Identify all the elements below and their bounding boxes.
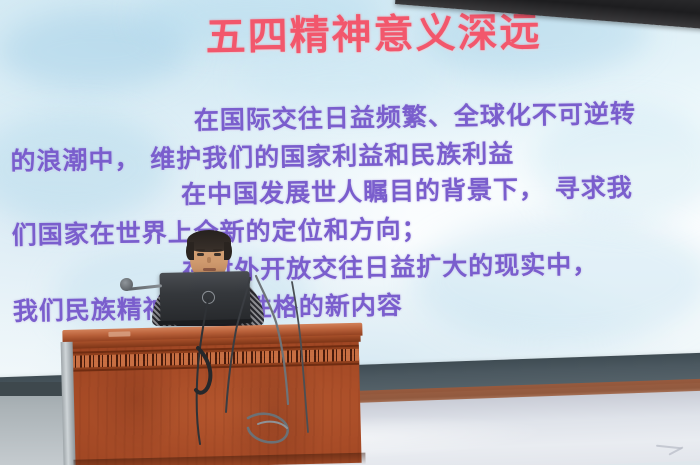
- speaker-eyebrow: [196, 249, 205, 251]
- speaker-eye: [197, 253, 204, 256]
- presentation-photo: 五四精神意义深远 在国际交往日益频繁、全球化不可逆转 的浪潮中， 维护我们的国家…: [0, 0, 700, 465]
- speaker-eye: [214, 253, 221, 256]
- slide-body-line: 在国际交往日益频繁、全球化不可逆转: [194, 94, 637, 137]
- microphone-head: [120, 278, 133, 291]
- podium-nameplate: [108, 331, 130, 337]
- speaker-hair-side: [186, 242, 194, 260]
- laptop-brand-logo: [202, 291, 215, 304]
- slide-body-line: 在中国发展世人瞩目的背景下， 寻求我: [181, 168, 633, 211]
- speaker-nose: [207, 257, 211, 263]
- podium: [62, 311, 366, 465]
- speaker-mouth: [203, 268, 216, 271]
- speaker-hair-side: [224, 242, 232, 260]
- speaker-eyebrow: [213, 249, 222, 251]
